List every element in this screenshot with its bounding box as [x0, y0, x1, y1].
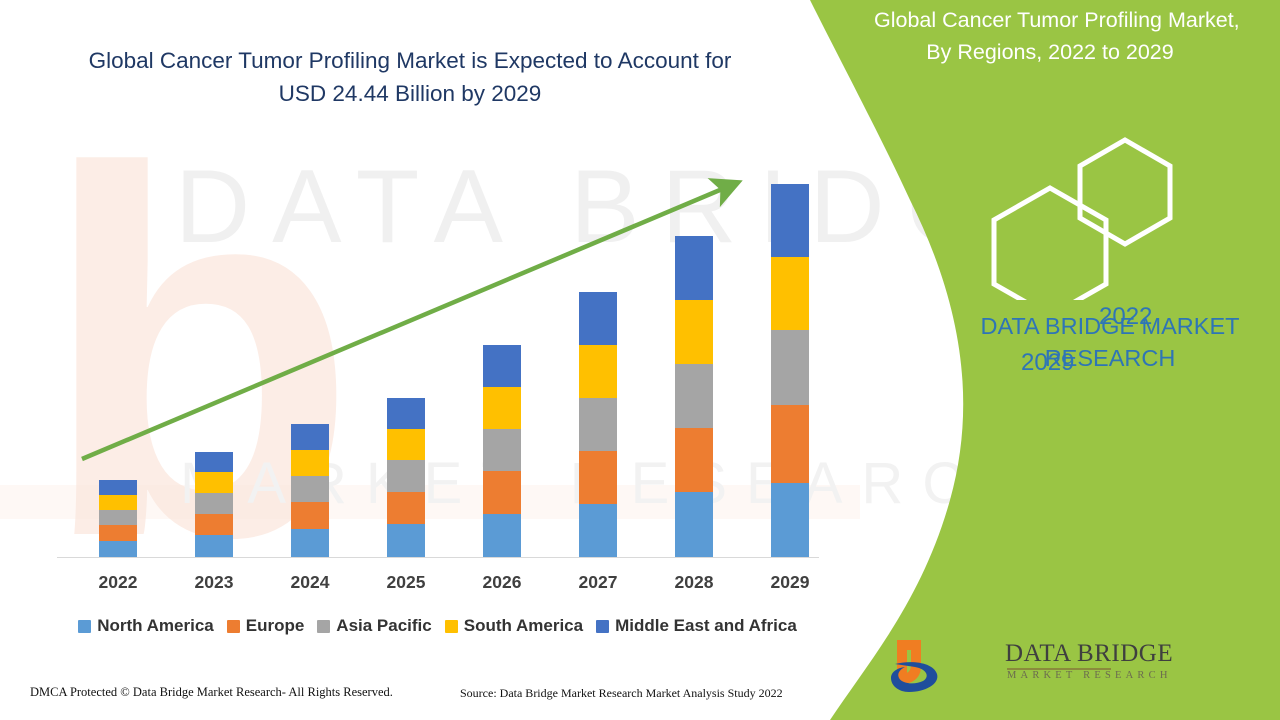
bar-segment[interactable]	[387, 492, 425, 524]
bar-segment[interactable]	[387, 460, 425, 492]
bar-segment[interactable]	[99, 495, 137, 510]
bar-segment[interactable]	[291, 424, 329, 450]
bar-segment[interactable]	[483, 387, 521, 429]
chart-title: Global Cancer Tumor Profiling Market is …	[70, 44, 750, 110]
bar-segment[interactable]	[291, 450, 329, 476]
bar-segment[interactable]	[675, 236, 713, 300]
panel-brand-line1: DATA BRIDGE MARKET	[981, 313, 1240, 339]
bar-segment[interactable]	[483, 429, 521, 471]
bar-segment[interactable]	[291, 502, 329, 529]
legend-swatch-icon	[445, 620, 458, 633]
legend-swatch-icon	[317, 620, 330, 633]
hexagon-2022-shape	[1080, 140, 1170, 244]
bar-segment[interactable]	[195, 514, 233, 535]
logo-mark-icon	[885, 636, 1000, 698]
legend-item-middle-east-and-africa[interactable]: Middle East and Africa	[596, 616, 797, 636]
bar-2026[interactable]	[483, 345, 521, 557]
bar-2023[interactable]	[195, 452, 233, 557]
legend-swatch-icon	[227, 620, 240, 633]
bar-2024[interactable]	[291, 424, 329, 557]
bar-segment[interactable]	[771, 483, 809, 557]
bar-2029[interactable]	[771, 184, 809, 557]
hexagon-outlines	[860, 130, 1280, 300]
bar-segment[interactable]	[483, 471, 521, 514]
bar-segment[interactable]	[387, 429, 425, 460]
bar-segment[interactable]	[387, 524, 425, 557]
legend-label: South America	[464, 616, 583, 636]
bar-segment[interactable]	[387, 398, 425, 429]
footer-copyright: DMCA Protected © Data Bridge Market Rese…	[30, 685, 393, 700]
x-axis-tick-2022: 2022	[83, 572, 153, 593]
bar-segment[interactable]	[195, 452, 233, 472]
bar-2028[interactable]	[675, 236, 713, 557]
logo-subtitle: MARKET RESEARCH	[1007, 670, 1172, 681]
bar-segment[interactable]	[483, 345, 521, 387]
legend-item-south-america[interactable]: South America	[445, 616, 583, 636]
legend-item-asia-pacific[interactable]: Asia Pacific	[317, 616, 431, 636]
x-axis-tick-2024: 2024	[275, 572, 345, 593]
x-axis-line	[57, 557, 819, 558]
bar-segment[interactable]	[771, 257, 809, 330]
bar-2025[interactable]	[387, 398, 425, 557]
panel-title: Global Cancer Tumor Profiling Market, By…	[860, 4, 1280, 68]
footer-source: Source: Data Bridge Market Research Mark…	[460, 686, 783, 701]
legend-swatch-icon	[78, 620, 91, 633]
bar-segment[interactable]	[99, 510, 137, 525]
hexagon-badges: 2022 2029	[860, 130, 1280, 300]
bar-segment[interactable]	[195, 493, 233, 514]
panel-brand-text: DATA BRIDGE MARKET RESEARCH	[960, 310, 1260, 374]
legend-label: North America	[97, 616, 214, 636]
bar-segment[interactable]	[579, 345, 617, 398]
bar-segment[interactable]	[771, 330, 809, 405]
x-axis-tick-2027: 2027	[563, 572, 633, 593]
bar-segment[interactable]	[291, 529, 329, 557]
bar-segment[interactable]	[771, 184, 809, 257]
legend-swatch-icon	[596, 620, 609, 633]
x-axis-tick-2023: 2023	[179, 572, 249, 593]
legend-item-europe[interactable]: Europe	[227, 616, 305, 636]
legend-label: Middle East and Africa	[615, 616, 797, 636]
panel-brand-line2: RESEARCH	[1045, 345, 1176, 371]
x-axis-tick-2026: 2026	[467, 572, 537, 593]
company-logo: DATA BRIDGE MARKET RESEARCH	[885, 636, 1115, 698]
bar-segment[interactable]	[579, 292, 617, 345]
bar-series-container	[55, 150, 820, 557]
bar-segment[interactable]	[579, 398, 617, 451]
green-panel-content: Global Cancer Tumor Profiling Market, By…	[860, 0, 1280, 720]
bar-segment[interactable]	[195, 472, 233, 493]
bar-segment[interactable]	[771, 405, 809, 483]
infographic-root: b DATA BRIDGE MARKET RESEARCH Global Can…	[0, 0, 1280, 720]
bar-segment[interactable]	[99, 525, 137, 541]
legend-label: Europe	[246, 616, 305, 636]
bar-segment[interactable]	[99, 541, 137, 557]
bar-2027[interactable]	[579, 292, 617, 557]
hexagon-2029-shape	[994, 188, 1106, 300]
chart-legend: North AmericaEuropeAsia PacificSouth Ame…	[55, 616, 820, 636]
bar-segment[interactable]	[675, 428, 713, 492]
bar-segment[interactable]	[675, 364, 713, 428]
panel-title-line2: By Regions, 2022 to 2029	[868, 36, 1280, 68]
bar-segment[interactable]	[675, 492, 713, 557]
x-axis-labels: 20222023202420252026202720282029	[55, 572, 820, 602]
bar-segment[interactable]	[291, 476, 329, 502]
bar-segment[interactable]	[483, 514, 521, 557]
bar-segment[interactable]	[579, 504, 617, 557]
bar-segment[interactable]	[579, 451, 617, 504]
bar-2022[interactable]	[99, 480, 137, 557]
bar-segment[interactable]	[99, 480, 137, 495]
chart-plot-area	[55, 150, 820, 558]
bar-segment[interactable]	[675, 300, 713, 364]
legend-item-north-america[interactable]: North America	[78, 616, 214, 636]
bar-segment[interactable]	[195, 535, 233, 557]
panel-title-line1: Global Cancer Tumor Profiling Market,	[868, 4, 1280, 36]
logo-wordmark: DATA BRIDGE	[1005, 640, 1173, 668]
x-axis-tick-2028: 2028	[659, 572, 729, 593]
x-axis-tick-2025: 2025	[371, 572, 441, 593]
legend-label: Asia Pacific	[336, 616, 431, 636]
